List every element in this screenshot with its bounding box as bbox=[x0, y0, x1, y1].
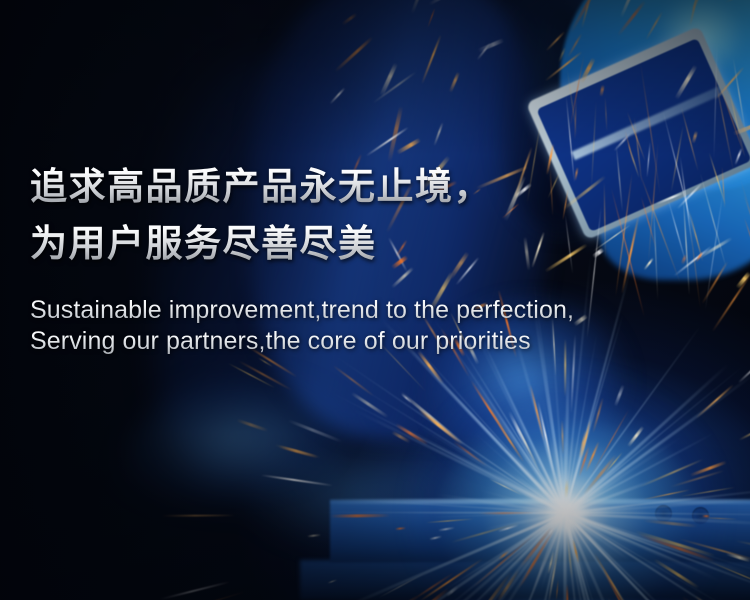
slogan-chinese-line-2: 为用户服务尽善尽美 bbox=[30, 215, 574, 272]
slogan-block: 追求高品质产品永无止境， 为用户服务尽善尽美 Sustainable impro… bbox=[30, 158, 574, 357]
slogan-english-line-2: Serving our partners,the core of our pri… bbox=[30, 326, 574, 357]
slogan-english-block: Sustainable improvement,trend to the per… bbox=[30, 295, 574, 357]
welding-hero-banner: 追求高品质产品永无止境， 为用户服务尽善尽美 Sustainable impro… bbox=[0, 0, 750, 600]
slogan-english-line-1: Sustainable improvement,trend to the per… bbox=[30, 295, 574, 326]
welding-arc-core bbox=[545, 492, 589, 536]
slogan-chinese-line-1: 追求高品质产品永无止境， bbox=[30, 158, 574, 215]
